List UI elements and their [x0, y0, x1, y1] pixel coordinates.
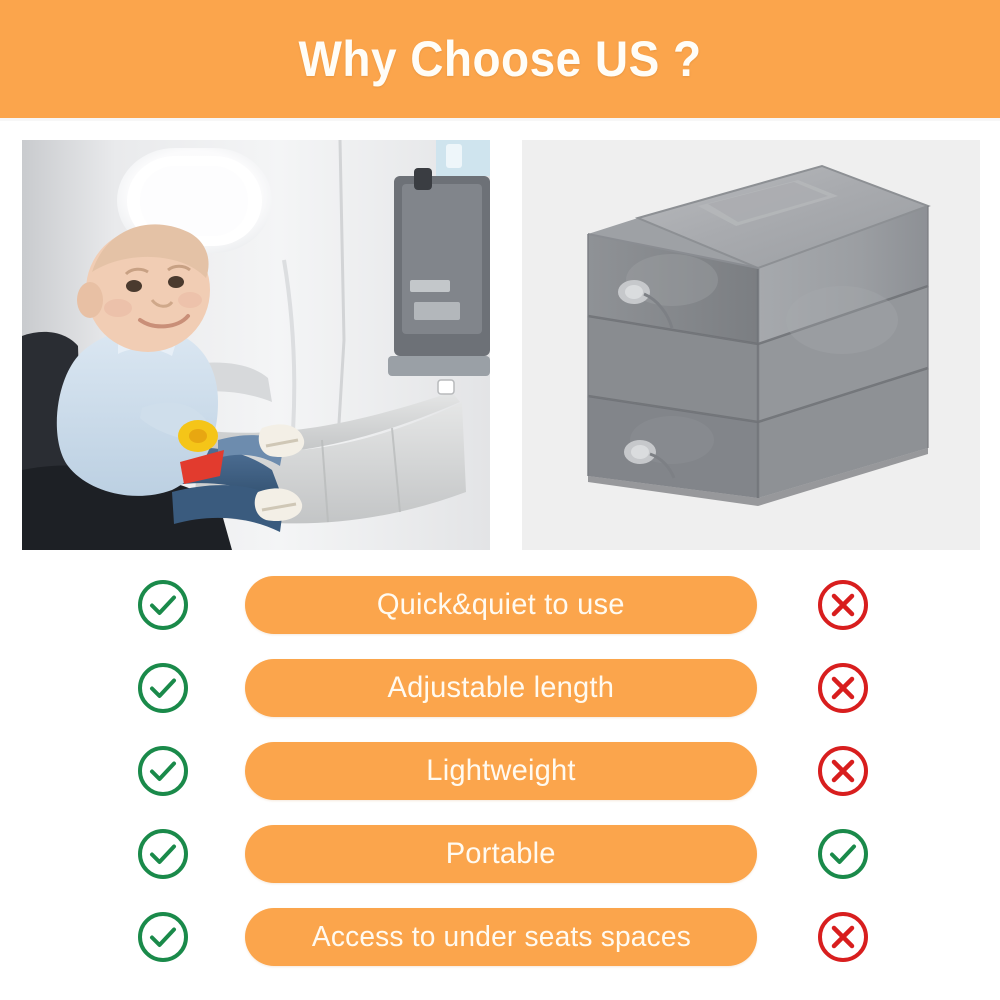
header-banner: Why Choose US ? [0, 0, 1000, 118]
why-choose-us-infographic: Why Choose US ? [0, 0, 1000, 1000]
feature-row: Lightweight [0, 742, 1000, 800]
feature-row: Access to under seats spaces [0, 908, 1000, 966]
cross-icon [812, 576, 874, 634]
check-icon [812, 825, 874, 883]
feature-label: Quick&quiet to use [377, 588, 625, 622]
feature-label: Adjustable length [388, 671, 615, 705]
check-icon [132, 825, 194, 883]
check-icon [132, 576, 194, 634]
check-icon [132, 659, 194, 717]
inflatable-footrest-pillow-photo [522, 140, 980, 550]
feature-pill[interactable]: Portable [245, 825, 757, 883]
baby-airplane-footrest-illustration [22, 140, 490, 550]
cross-icon [812, 742, 874, 800]
feature-row: Adjustable length [0, 659, 1000, 717]
cross-icon [812, 908, 874, 966]
feature-label: Access to under seats spaces [311, 921, 690, 954]
header-divider [0, 118, 1000, 121]
inflatable-footrest-pillow-illustration [522, 140, 980, 550]
feature-label: Lightweight [426, 754, 575, 788]
feature-pill[interactable]: Adjustable length [245, 659, 757, 717]
feature-row: Portable [0, 825, 1000, 883]
check-icon [132, 742, 194, 800]
feature-pill[interactable]: Lightweight [245, 742, 757, 800]
feature-label: Portable [446, 837, 556, 871]
baby-airplane-footrest-photo [22, 140, 490, 550]
feature-list: Quick&quiet to use Adjustable length [0, 576, 1000, 991]
check-icon [132, 908, 194, 966]
cross-icon [812, 659, 874, 717]
feature-pill[interactable]: Access to under seats spaces [245, 908, 757, 966]
page-title: Why Choose US ? [298, 30, 701, 88]
photo-gallery [22, 140, 980, 550]
feature-row: Quick&quiet to use [0, 576, 1000, 634]
feature-pill[interactable]: Quick&quiet to use [245, 576, 757, 634]
